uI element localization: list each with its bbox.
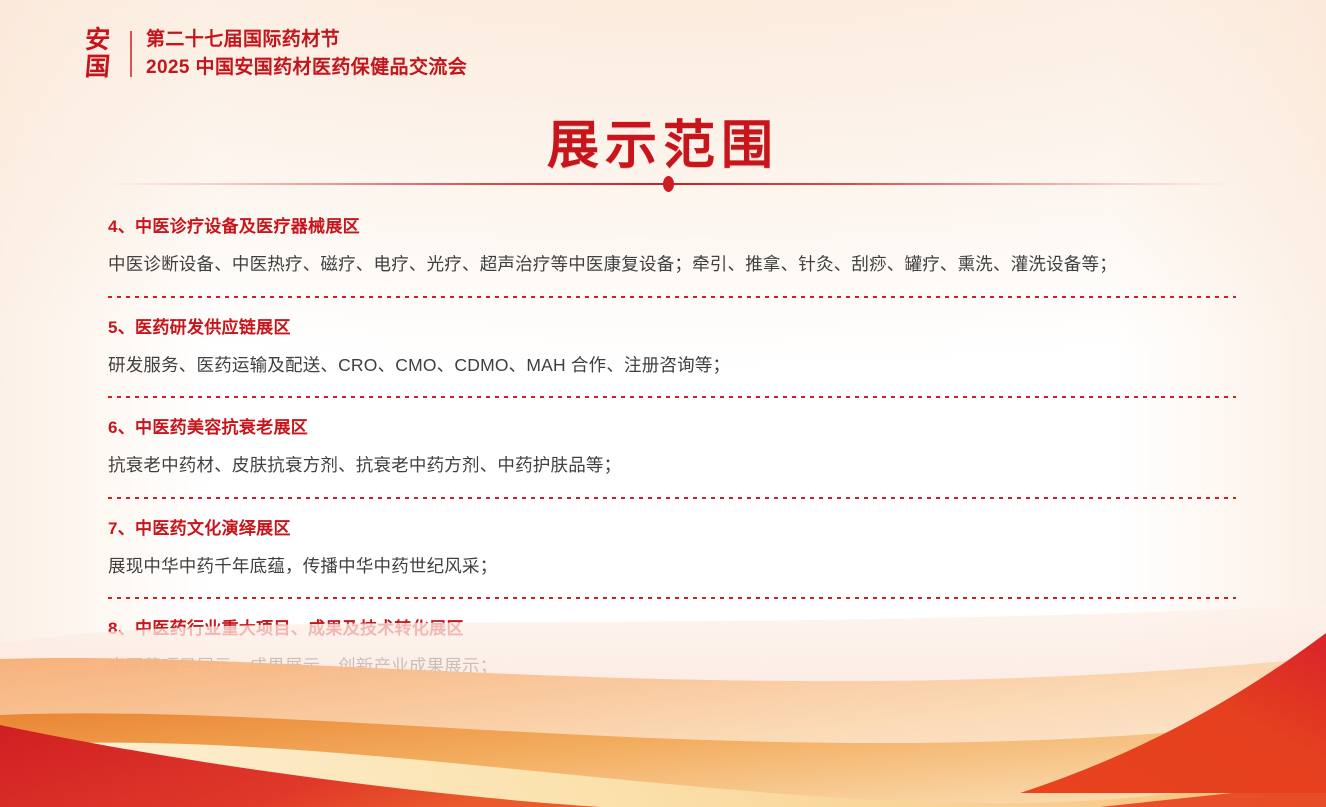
divider-dot-icon bbox=[663, 176, 674, 192]
logo-char-bottom: 国 bbox=[84, 54, 111, 81]
section-heading: 5、医药研发供应链展区 bbox=[108, 298, 1236, 336]
logo-char-top: 安 bbox=[84, 27, 111, 54]
section-heading: 8、中医药行业重大项目、成果及技术转化展区 bbox=[108, 599, 1236, 637]
logo-divider bbox=[130, 31, 132, 77]
brand-text-block: 第二十七届国际药材节 2025 中国安国药材医药保健品交流会 bbox=[146, 26, 467, 81]
section-item: 6、中医药美容抗衰老展区 抗衰老中药材、皮肤抗衰方剂、抗衰老中药方剂、中药护肤品… bbox=[108, 398, 1236, 499]
section-item: 7、中医药文化演绎展区 展现中华中药千年底蕴，传播中华中药世纪风采； bbox=[108, 499, 1236, 600]
title-divider bbox=[104, 176, 1232, 192]
section-body: 研发服务、医药运输及配送、CRO、CMO、CDMO、MAH 合作、注册咨询等； bbox=[108, 357, 1236, 375]
brand-header: 安 国 第二十七届国际药材节 2025 中国安国药材医药保健品交流会 bbox=[78, 26, 467, 81]
section-heading: 6、中医药美容抗衰老展区 bbox=[108, 398, 1236, 436]
slide-page: 安 国 第二十七届国际药材节 2025 中国安国药材医药保健品交流会 展示范围 … bbox=[0, 0, 1326, 807]
event-name-line: 第二十七届国际药材节 bbox=[146, 26, 467, 54]
exhibit-scope-list: 4、中医诊疗设备及医疗器械展区 中医诊断设备、中医热疗、磁疗、电疗、光疗、超声治… bbox=[108, 210, 1236, 676]
section-body: 中医诊断设备、中医热疗、磁疗、电疗、光疗、超声治疗等中医康复设备；牵引、推拿、针… bbox=[108, 256, 1236, 274]
section-item: 5、医药研发供应链展区 研发服务、医药运输及配送、CRO、CMO、CDMO、MA… bbox=[108, 298, 1236, 399]
section-item: 4、中医诊疗设备及医疗器械展区 中医诊断设备、中医热疗、磁疗、电疗、光疗、超声治… bbox=[108, 210, 1236, 298]
page-title: 展示范围 bbox=[0, 103, 1326, 178]
section-body: 中医药项目展示、成果展示、创新产业成果展示； bbox=[108, 658, 1236, 676]
section-heading: 7、中医药文化演绎展区 bbox=[108, 499, 1236, 537]
section-body: 抗衰老中药材、皮肤抗衰方剂、抗衰老中药方剂、中药护肤品等； bbox=[108, 457, 1236, 475]
anguo-logo-icon: 安 国 bbox=[78, 27, 118, 81]
event-subtitle-line: 2025 中国安国药材医药保健品交流会 bbox=[146, 54, 467, 82]
section-item: 8、中医药行业重大项目、成果及技术转化展区 中医药项目展示、成果展示、创新产业成… bbox=[108, 599, 1236, 676]
section-body: 展现中华中药千年底蕴，传播中华中药世纪风采； bbox=[108, 558, 1236, 576]
section-heading: 4、中医诊疗设备及医疗器械展区 bbox=[108, 210, 1236, 235]
